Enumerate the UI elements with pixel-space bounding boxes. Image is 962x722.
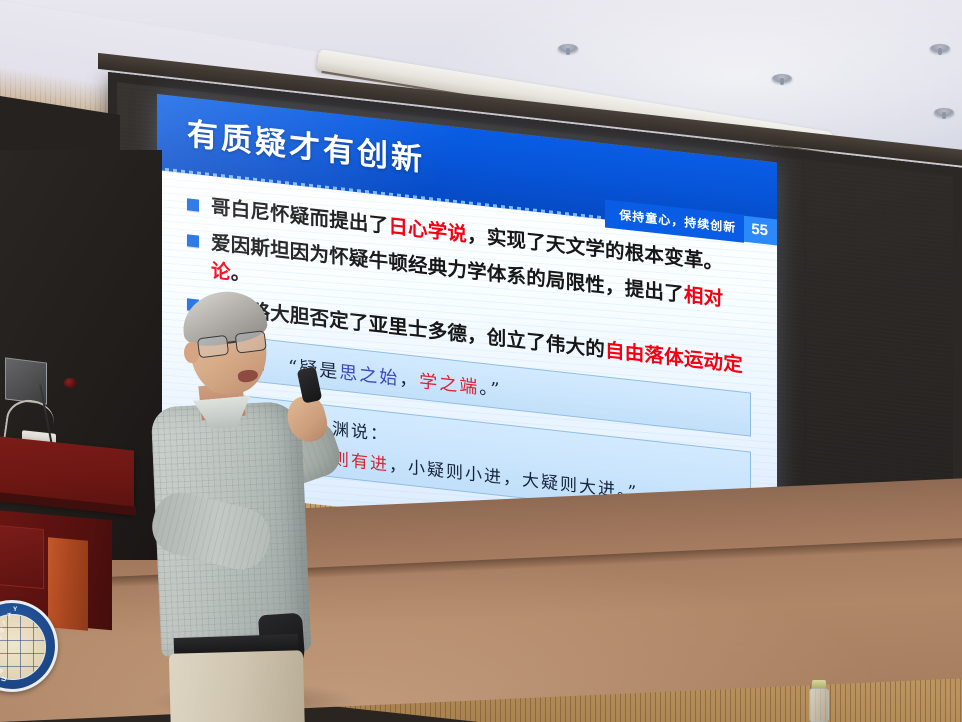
presenter-trousers	[169, 650, 305, 722]
glasses-bridge	[228, 341, 236, 344]
podium	[0, 443, 140, 613]
quote-segment: 学之端	[419, 371, 479, 399]
presenter	[150, 286, 360, 722]
emblem-letter: N	[0, 668, 6, 676]
sprinkler-icon	[558, 44, 578, 53]
quote-segment: 。”	[479, 378, 501, 401]
emblem-letter: E	[0, 643, 2, 651]
emblem-letter: V	[0, 651, 2, 659]
lecture-hall-scene: 有质疑才有创新 保持童心，持续创新 55 哥白尼怀疑而提出了日心学说，实现了天文…	[0, 0, 962, 722]
quote-segment: ，	[399, 369, 419, 392]
bottle-body	[809, 688, 829, 722]
slide-page-number: 55	[744, 216, 777, 246]
slide-title: 有质疑才有创新	[187, 108, 425, 179]
plain-text: 。	[231, 261, 251, 286]
podium-front-panel	[0, 525, 44, 589]
emblem-letter: R	[0, 634, 4, 643]
sprinkler-icon	[934, 108, 954, 117]
glasses-left-lens	[197, 335, 229, 359]
emblem-letter: T	[7, 612, 12, 620]
highlight-term: 日心学说	[388, 215, 467, 247]
emblem-letter: I	[2, 620, 6, 627]
water-bottle	[808, 680, 830, 722]
bullet-square-icon	[187, 198, 199, 211]
emblem-letter: S	[0, 626, 6, 634]
emblem-ring-text: CHINA UNIVERSITY OF GEOSCIENCES	[0, 603, 58, 692]
university-emblem: CHINA UNIVERSITY OF GEOSCIENCES	[0, 600, 58, 692]
emblem-letter: Y	[13, 606, 18, 613]
emblem-letter: I	[0, 662, 2, 668]
emblem-letter: U	[0, 676, 8, 683]
microphone-icon	[64, 378, 77, 388]
emblem-letter: A	[10, 690, 17, 692]
bullet-square-icon	[187, 234, 199, 247]
sprinkler-icon	[930, 44, 950, 53]
glasses-right-lens	[235, 330, 267, 354]
sprinkler-icon	[772, 74, 792, 83]
